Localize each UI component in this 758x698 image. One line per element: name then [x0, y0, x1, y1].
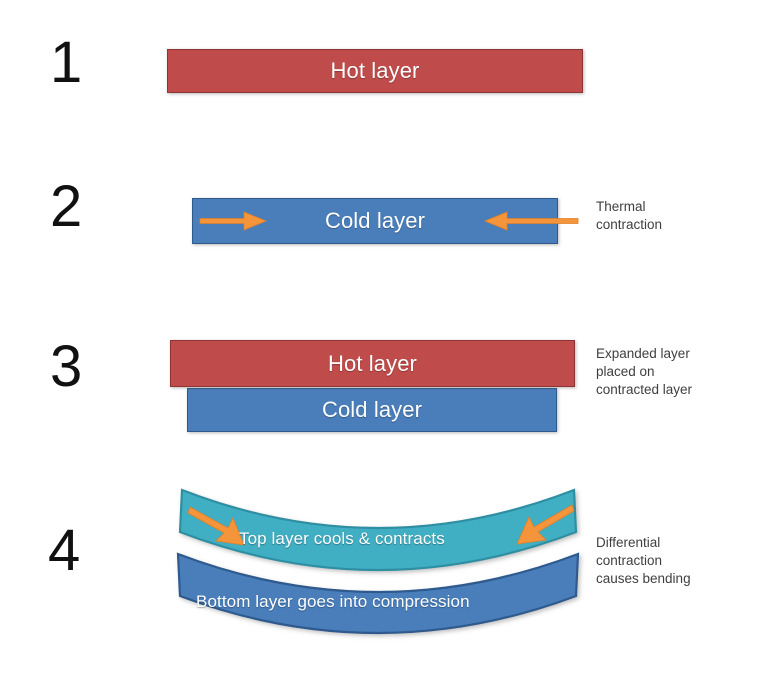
step4-caption: Differential contraction causes bending: [596, 534, 751, 588]
step-number-2: 2: [50, 178, 82, 236]
step3-cold-layer-bar: Cold layer: [187, 388, 557, 432]
arrow-diagonal-down-left-icon: [508, 503, 574, 551]
arrow-right-inward-icon: [200, 205, 270, 237]
step3-hot-layer-bar: Hot layer: [170, 340, 575, 387]
step4-bottom-layer-label: Bottom layer goes into compression: [196, 592, 470, 612]
step-number-1: 1: [50, 34, 82, 92]
step3-caption: Expanded layer placed on contracted laye…: [596, 345, 751, 399]
step2-caption: Thermal contraction: [596, 198, 746, 234]
arrow-left-inward-icon: [483, 205, 578, 237]
step-number-4: 4: [48, 522, 80, 580]
step1-hot-layer-bar: Hot layer: [167, 49, 583, 93]
step4-top-layer-label: Top layer cools & contracts: [239, 529, 445, 549]
thermal-bending-diagram: 1 2 3 4 Hot layer Cold layer Hot layer C…: [0, 0, 758, 698]
step-number-3: 3: [50, 338, 82, 396]
